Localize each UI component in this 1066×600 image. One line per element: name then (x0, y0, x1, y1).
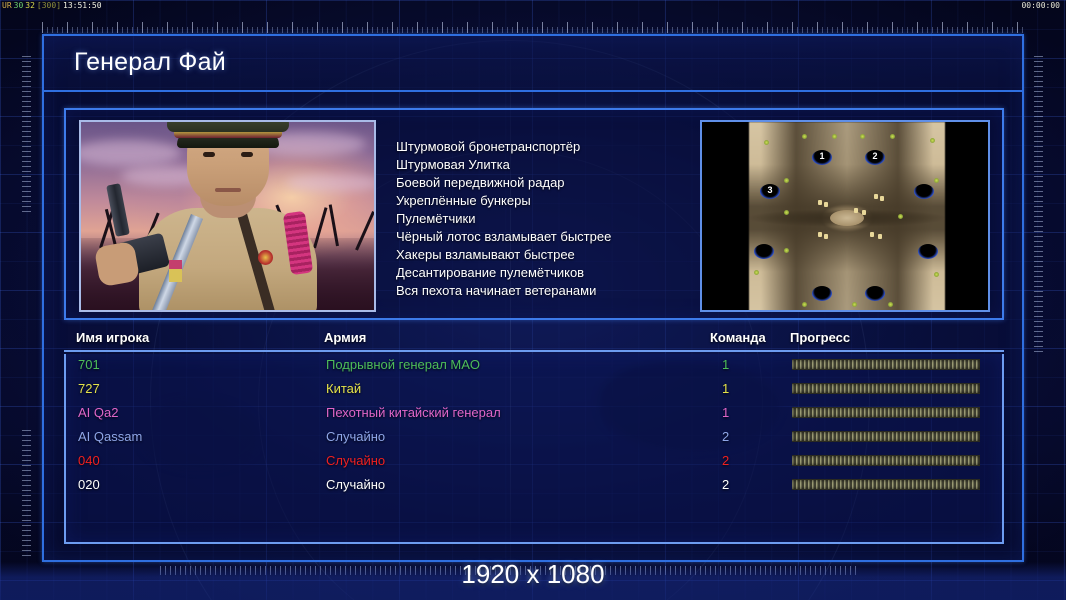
map-start-position (754, 244, 774, 259)
player-name: AI Qa2 (78, 404, 118, 422)
player-progress-bar (792, 383, 980, 394)
map-tech-structure (880, 196, 884, 201)
portrait-eye-right (241, 152, 253, 157)
map-tech-structure (824, 234, 828, 239)
player-name: 727 (78, 380, 100, 398)
map-resource-dot (784, 178, 789, 183)
map-resource-dot (930, 138, 935, 143)
map-resource-dot (764, 140, 769, 145)
column-header-army: Армия (324, 330, 366, 345)
map-resource-dot (890, 134, 895, 139)
map-resource-dot (934, 178, 939, 183)
resolution-label: 1920 x 1080 (0, 559, 1066, 590)
ability-item: Чёрный лотос взламывает быстрее (396, 228, 686, 246)
fps-timestamp: 13:51:50 (62, 1, 103, 10)
table-row[interactable]: AI Qa2Пехотный китайский генерал1 (66, 402, 1002, 426)
map-tech-structure (854, 208, 858, 213)
map-resource-dot (860, 134, 865, 139)
portrait-hand (94, 241, 140, 287)
map-preview: 123 (700, 120, 990, 312)
ability-item: Штурмовой бронетранспортёр (396, 138, 686, 156)
main-frame: Генерал Фай (42, 34, 1024, 562)
player-table-header: Имя игрока Армия Команда Прогресс (64, 330, 1004, 352)
player-army: Китай (326, 380, 361, 398)
player-army: Подрывной генерал MAO (326, 356, 480, 374)
player-army: Случайно (326, 476, 385, 494)
player-army: Пехотный китайский генерал (326, 404, 501, 422)
player-name: 040 (78, 452, 100, 470)
ruler-top (42, 22, 1024, 33)
map-resource-dot (898, 214, 903, 219)
player-table-body: 701Подрывной генерал MAO1727Китай1AI Qa2… (64, 354, 1004, 544)
fps-counter: UR3032[300]13:51:50 (1, 0, 103, 12)
map-resource-dot (802, 302, 807, 307)
map-resource-dot (802, 134, 807, 139)
player-name: AI Qassam (78, 428, 142, 446)
player-progress-bar (792, 407, 980, 418)
general-portrait (79, 120, 376, 312)
player-army: Случайно (326, 428, 385, 446)
ability-item: Укреплённые бункеры (396, 192, 686, 210)
map-start-position-label: 2 (865, 151, 885, 161)
debug-overlay: UR3032[300]13:51:50 00:00:00 (0, 0, 1066, 12)
fps-prefix: UR (1, 1, 13, 10)
map-start-position-label: 3 (760, 185, 780, 195)
map-tech-structure (862, 210, 866, 215)
portrait-cloud-4 (286, 174, 376, 192)
player-progress-bar (792, 359, 980, 370)
map-tech-structure (824, 202, 828, 207)
title-bar: Генерал Фай (44, 36, 1022, 92)
map-start-position (914, 184, 934, 199)
map-resource-dot (754, 270, 759, 275)
table-row[interactable]: 040Случайно2 (66, 450, 1002, 474)
table-row[interactable]: 020Случайно2 (66, 474, 1002, 498)
player-army: Случайно (326, 452, 385, 470)
map-resource-dot (888, 302, 893, 307)
player-progress-bar (792, 431, 980, 442)
ability-item: Вся пехота начинает ветеранами (396, 282, 686, 300)
portrait-eye-left (203, 152, 215, 157)
player-team: 2 (722, 476, 729, 494)
portrait-badge (258, 250, 273, 265)
ability-item: Боевой передвижной радар (396, 174, 686, 192)
column-header-team: Команда (710, 330, 766, 345)
column-header-name: Имя игрока (76, 330, 149, 345)
map-tech-structure (878, 234, 882, 239)
map-start-position: 1 (812, 150, 832, 165)
ruler-left-lower (22, 430, 31, 560)
map-start-position: 2 (865, 150, 885, 165)
player-team: 2 (722, 428, 729, 446)
general-abilities-list: Штурмовой бронетранспортёр Штурмовая Ули… (396, 138, 686, 300)
map-center-island (830, 210, 864, 226)
portrait-mouth (215, 188, 241, 192)
map-start-position (812, 286, 832, 301)
player-progress-bar (792, 455, 980, 466)
player-team: 1 (722, 380, 729, 398)
table-row[interactable]: AI QassamСлучайно2 (66, 426, 1002, 450)
map-start-position-label: 1 (812, 151, 832, 161)
ruler-right (1034, 56, 1043, 356)
ability-item: Хакеры взламывают быстрее (396, 246, 686, 264)
player-team: 2 (722, 452, 729, 470)
portrait-medal (169, 260, 182, 282)
map-resource-dot (852, 302, 857, 307)
map-resource-dot (784, 210, 789, 215)
ruler-left-upper (22, 56, 31, 216)
map-tech-structure (818, 232, 822, 237)
map-resource-dot (934, 272, 939, 277)
portrait-cap-top (167, 120, 289, 132)
player-team: 1 (722, 356, 729, 374)
general-info-panel: Штурмовой бронетранспортёр Штурмовая Ули… (64, 108, 1004, 320)
player-name: 020 (78, 476, 100, 494)
ability-item: Штурмовая Улитка (396, 156, 686, 174)
map-tech-structure (818, 200, 822, 205)
map-resource-dot (784, 248, 789, 253)
map-resource-dot (832, 134, 837, 139)
fps-value-a: 30 (13, 1, 25, 10)
map-tech-structure (870, 232, 874, 237)
player-name: 701 (78, 356, 100, 374)
fps-value-b: 32 (24, 1, 36, 10)
table-row[interactable]: 727Китай1 (66, 378, 1002, 402)
table-row[interactable]: 701Подрывной генерал MAO1 (66, 354, 1002, 378)
player-progress-bar (792, 479, 980, 490)
page-title: Генерал Фай (74, 48, 226, 77)
fps-value-c: [300] (36, 1, 62, 10)
ability-item: Десантирование пулемётчиков (396, 264, 686, 282)
map-start-position (865, 286, 885, 301)
game-screen: UR3032[300]13:51:50 00:00:00 Генерал Фай (0, 0, 1066, 600)
map-tech-structure (874, 194, 878, 199)
map-start-position: 3 (760, 184, 780, 199)
player-team: 1 (722, 404, 729, 422)
match-clock: 00:00:00 (1021, 0, 1060, 12)
column-header-progress: Прогресс (790, 330, 850, 345)
ability-item: Пулемётчики (396, 210, 686, 228)
map-start-position (918, 244, 938, 259)
